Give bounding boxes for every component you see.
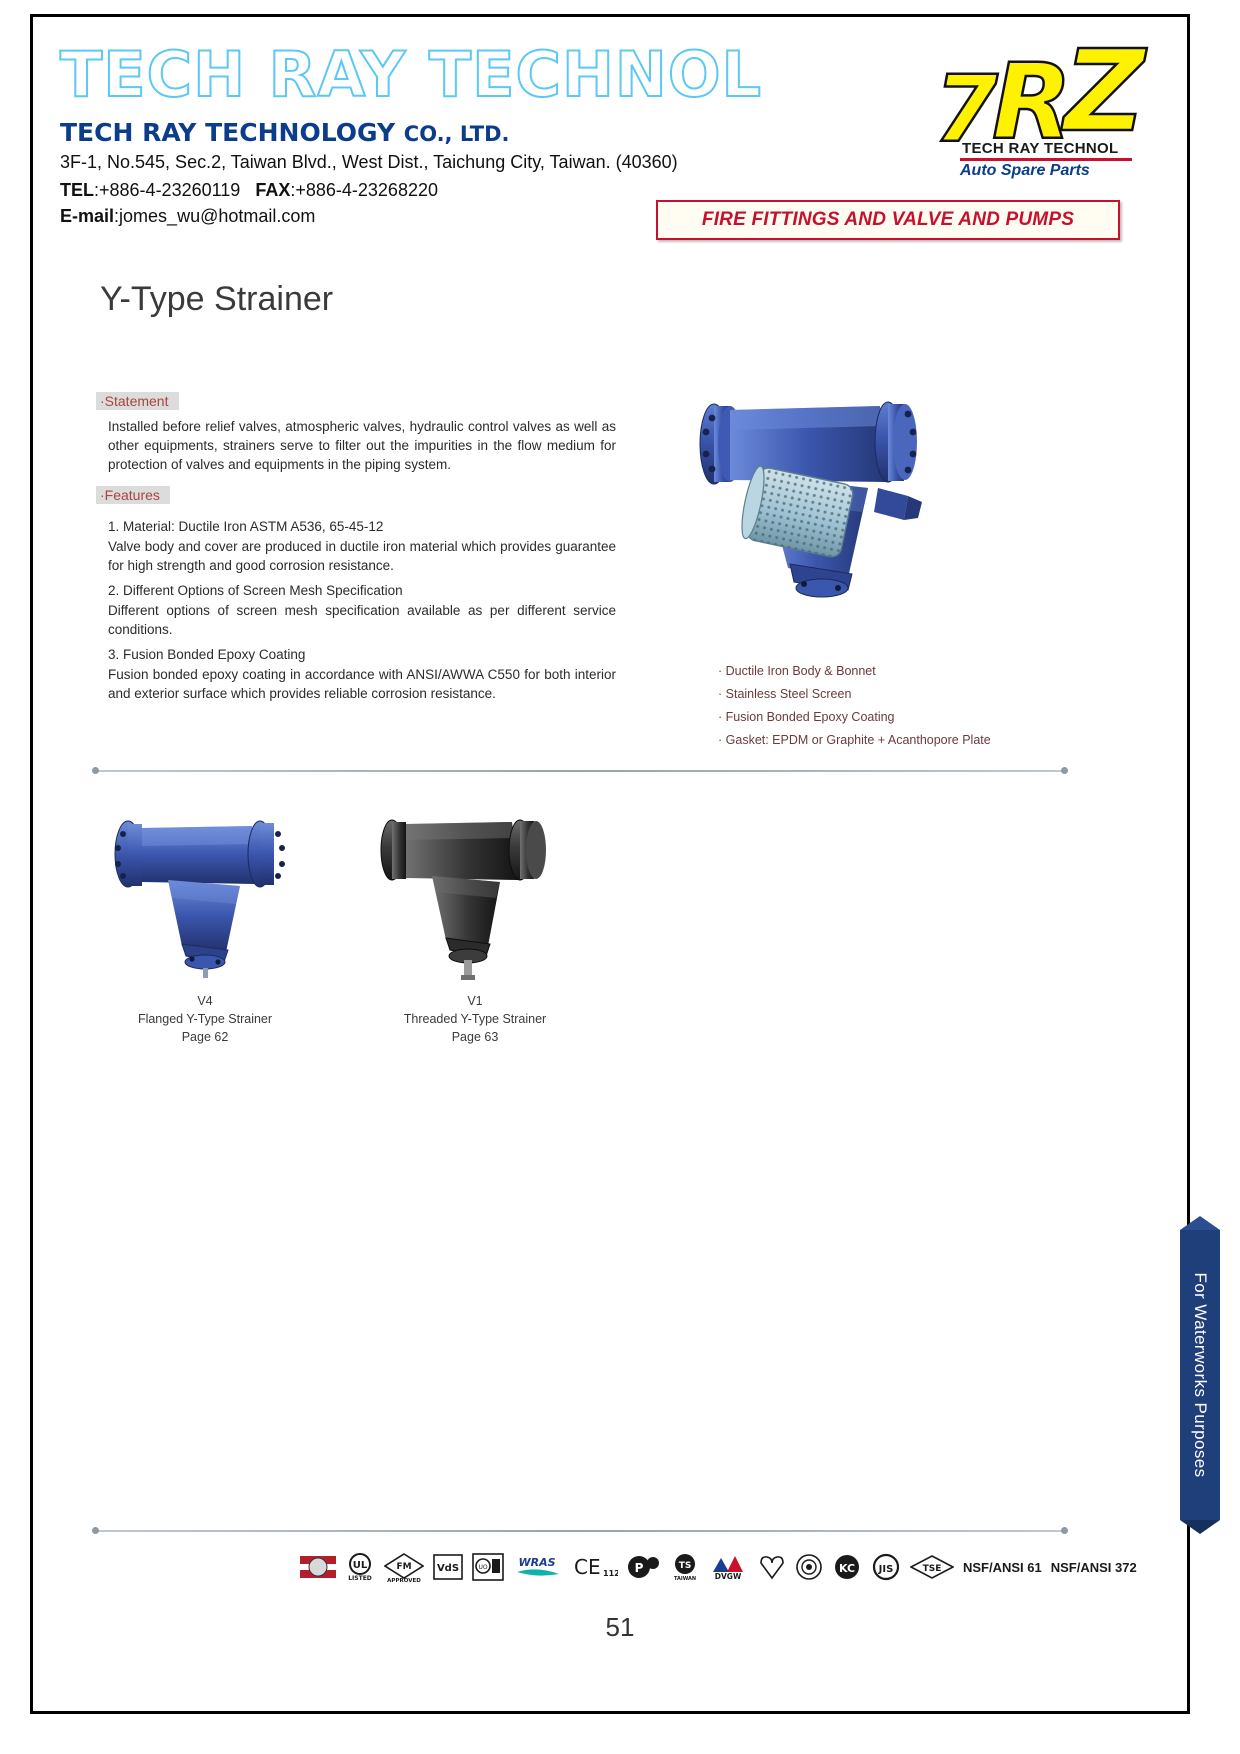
tel-label: TEL bbox=[60, 180, 94, 200]
company-phone-line: TEL:+886-4-23260119 FAX:+886-4-23268220 bbox=[60, 180, 438, 201]
fire-fittings-banner-text: FIRE FITTINGS AND VALVE AND PUMPS bbox=[702, 209, 1074, 231]
features-heading: Features bbox=[96, 486, 170, 504]
product-card[interactable]: V4 Flanged Y-Type Strainer Page 62 bbox=[90, 812, 320, 1046]
svg-text:P: P bbox=[635, 1561, 644, 1575]
svg-text:WRAS: WRAS bbox=[518, 1556, 555, 1569]
statement-heading: Statement bbox=[96, 392, 179, 410]
dvgw-mark-icon: DVGW bbox=[709, 1552, 749, 1582]
vds-mark-icon: VdS bbox=[433, 1552, 463, 1582]
svg-text:DVGW: DVGW bbox=[715, 1572, 742, 1581]
certification-divider bbox=[96, 1530, 1064, 1532]
company-email-line: E-mail:jomes_wu@hotmail.com bbox=[60, 206, 315, 227]
trt-divider bbox=[960, 158, 1132, 161]
svg-text:TS: TS bbox=[679, 1561, 692, 1571]
product-image-flanged bbox=[90, 812, 320, 992]
feature-body: Fusion bonded epoxy coating in accordanc… bbox=[108, 665, 616, 703]
svg-text:C: C bbox=[574, 1555, 588, 1579]
svg-text:UL: UL bbox=[353, 1560, 368, 1571]
trt-letter-r-icon: R bbox=[992, 50, 1072, 154]
page-number: 51 bbox=[0, 1612, 1240, 1643]
ce-mark-icon: CE1129 bbox=[572, 1552, 618, 1582]
section-divider bbox=[96, 770, 1064, 772]
feature-title: 3. Fusion Bonded Epoxy Coating bbox=[108, 645, 616, 665]
fm-approved-mark-icon: FMAPPROVED bbox=[384, 1552, 424, 1582]
hero-product-image bbox=[672, 392, 992, 622]
hero-bullet: Gasket: EPDM or Graphite + Acanthopore P… bbox=[718, 729, 1048, 752]
email-label: E-mail bbox=[60, 206, 114, 226]
page-title: Y-Type Strainer bbox=[100, 280, 333, 319]
svg-text:UO: UO bbox=[478, 1564, 487, 1571]
austria-oevgw-mark-icon bbox=[300, 1552, 336, 1582]
tel-value: +886-4-23260119 bbox=[99, 180, 240, 200]
email-value: jomes_wu@hotmail.com bbox=[119, 206, 315, 226]
feature-body: Valve body and cover are produced in duc… bbox=[108, 537, 616, 575]
jis-mark-icon: JIS bbox=[871, 1552, 901, 1582]
product-card[interactable]: V1 Threaded Y-Type Strainer Page 63 bbox=[360, 812, 590, 1046]
product-page-ref[interactable]: Page 62 bbox=[90, 1028, 320, 1046]
product-image-threaded bbox=[360, 812, 590, 992]
hero-bullet: Fusion Bonded Epoxy Coating bbox=[718, 706, 1048, 729]
company-wordmark-outline: TECH RAY TECHNOL bbox=[60, 44, 762, 106]
fax-label: FAX bbox=[255, 180, 290, 200]
hero-bullet: Stainless Steel Screen bbox=[718, 683, 1048, 706]
svg-text:VdS: VdS bbox=[437, 1563, 459, 1574]
catalog-page: TECH RAY TECHNOL TECH RAY TECHNOLOGY CO.… bbox=[0, 0, 1240, 1754]
company-name: TECH RAY TECHNOLOGY CO., LTD. bbox=[60, 118, 510, 147]
trt-letter-z-icon: Z bbox=[1064, 36, 1145, 148]
ts-mark-icon: TSTAIWAN bbox=[670, 1552, 700, 1582]
product-code: V1 bbox=[360, 992, 590, 1010]
certification-strip: ULLISTED FMAPPROVED VdS UO WRAS CE1129 P… bbox=[300, 1548, 980, 1586]
svg-text:1129: 1129 bbox=[603, 1569, 618, 1578]
description-column: Statement Installed before relief valves… bbox=[96, 392, 616, 707]
product-code: V4 bbox=[90, 992, 320, 1010]
hero-bullet: Ductile Iron Body & Bonnet bbox=[718, 660, 1048, 683]
svg-text:LISTED: LISTED bbox=[348, 1575, 372, 1582]
statement-body: Installed before relief valves, atmosphe… bbox=[108, 417, 616, 474]
trt-tagline: Auto Spare Parts bbox=[960, 162, 1090, 180]
product-page-ref[interactable]: Page 63 bbox=[360, 1028, 590, 1046]
svg-text:TAIWAN: TAIWAN bbox=[674, 1576, 696, 1582]
svg-text:JIS: JIS bbox=[878, 1564, 894, 1575]
feature-title: 1. Material: Ductile Iron ASTM A536, 65-… bbox=[108, 517, 616, 537]
nsf-ansi-61-label: NSF/ANSI 61 bbox=[963, 1552, 1042, 1582]
nsf-ansi-372-label: NSF/ANSI 372 bbox=[1051, 1552, 1137, 1582]
company-address: 3F-1, No.545, Sec.2, Taiwan Blvd., West … bbox=[60, 152, 678, 173]
svg-text:KC: KC bbox=[839, 1562, 855, 1575]
svg-text:APPROVED: APPROVED bbox=[387, 1578, 421, 1582]
feature-body: Different options of screen mesh specifi… bbox=[108, 601, 616, 639]
company-name-suffix: CO., LTD. bbox=[404, 122, 510, 146]
trt-monogram-icon: 7 R Z bbox=[924, 36, 1139, 141]
heart-mark-icon bbox=[758, 1552, 786, 1582]
kc-mark-icon: KC bbox=[832, 1552, 862, 1582]
hero-feature-bullets: Ductile Iron Body & Bonnet Stainless Ste… bbox=[718, 660, 1048, 752]
svg-text:TSE: TSE bbox=[923, 1564, 942, 1574]
circle-mark-icon bbox=[795, 1552, 823, 1582]
tse-mark-icon: TSE bbox=[910, 1552, 954, 1582]
wras-mark-icon: WRAS bbox=[513, 1552, 563, 1582]
side-tab-waterworks: For Waterworks Purposes bbox=[1180, 1230, 1220, 1520]
company-name-main: TECH RAY TECHNOLOGY bbox=[60, 118, 395, 147]
trt-brand-logo: 7 R Z TECH RAY TECHNOL Auto Spare Parts bbox=[924, 36, 1139, 191]
svg-text:FM: FM bbox=[396, 1562, 411, 1572]
trt-brand-name: TECH RAY TECHNOL bbox=[962, 140, 1118, 157]
uo-approved-mark-icon: UO bbox=[472, 1552, 504, 1582]
feature-title: 2. Different Options of Screen Mesh Spec… bbox=[108, 581, 616, 601]
product-name: Threaded Y-Type Strainer bbox=[360, 1010, 590, 1028]
ul-listed-mark-icon: ULLISTED bbox=[345, 1552, 375, 1582]
product-name: Flanged Y-Type Strainer bbox=[90, 1010, 320, 1028]
pccs-mark-icon: P bbox=[627, 1552, 661, 1582]
side-tab-label: For Waterworks Purposes bbox=[1190, 1272, 1210, 1477]
svg-text:E: E bbox=[588, 1555, 601, 1579]
fire-fittings-banner: FIRE FITTINGS AND VALVE AND PUMPS bbox=[656, 200, 1120, 240]
fax-value: +886-4-23268220 bbox=[295, 180, 438, 200]
